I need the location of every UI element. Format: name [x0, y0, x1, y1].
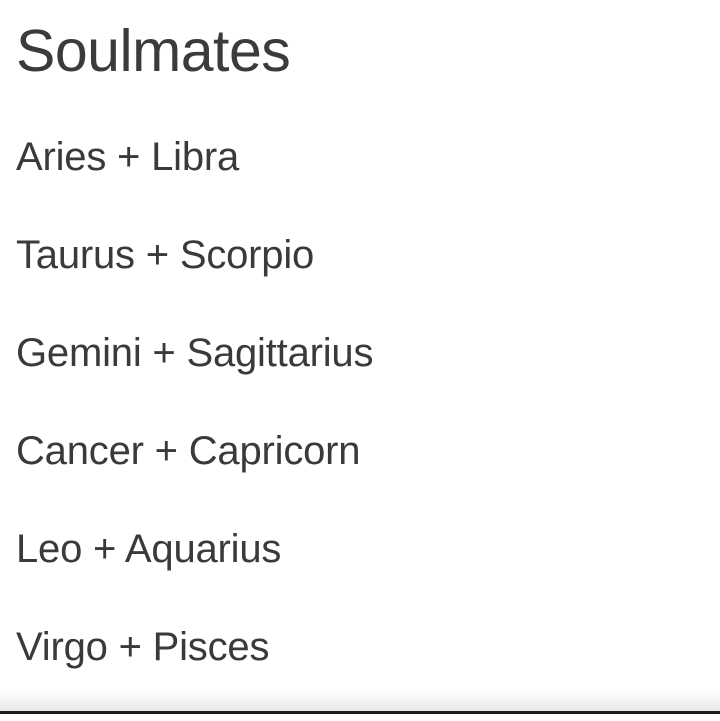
heading-block: Soulmates — [16, 18, 706, 102]
page-title: Soulmates — [16, 18, 706, 84]
list-item: Gemini + Sagittarius — [16, 329, 706, 427]
pair-label: Virgo + Pisces — [16, 623, 269, 671]
faded-subtitle-artifact — [16, 86, 706, 102]
pair-label: Leo + Aquarius — [16, 525, 281, 573]
soulmate-pair-list: Aries + Libra Taurus + Scorpio Gemini + … — [16, 133, 706, 721]
list-item: Aries + Libra — [16, 133, 706, 231]
pair-label: Taurus + Scorpio — [16, 231, 314, 279]
list-item: Leo + Aquarius — [16, 525, 706, 623]
pair-label: Aries + Libra — [16, 133, 239, 181]
bottom-gradient-band — [0, 689, 720, 711]
soulmates-page: Soulmates Aries + Libra Taurus + Scorpio… — [0, 0, 720, 714]
pair-label: Cancer + Capricorn — [16, 427, 360, 475]
list-item: Cancer + Capricorn — [16, 427, 706, 525]
list-item: Taurus + Scorpio — [16, 231, 706, 329]
pair-label: Gemini + Sagittarius — [16, 329, 373, 377]
